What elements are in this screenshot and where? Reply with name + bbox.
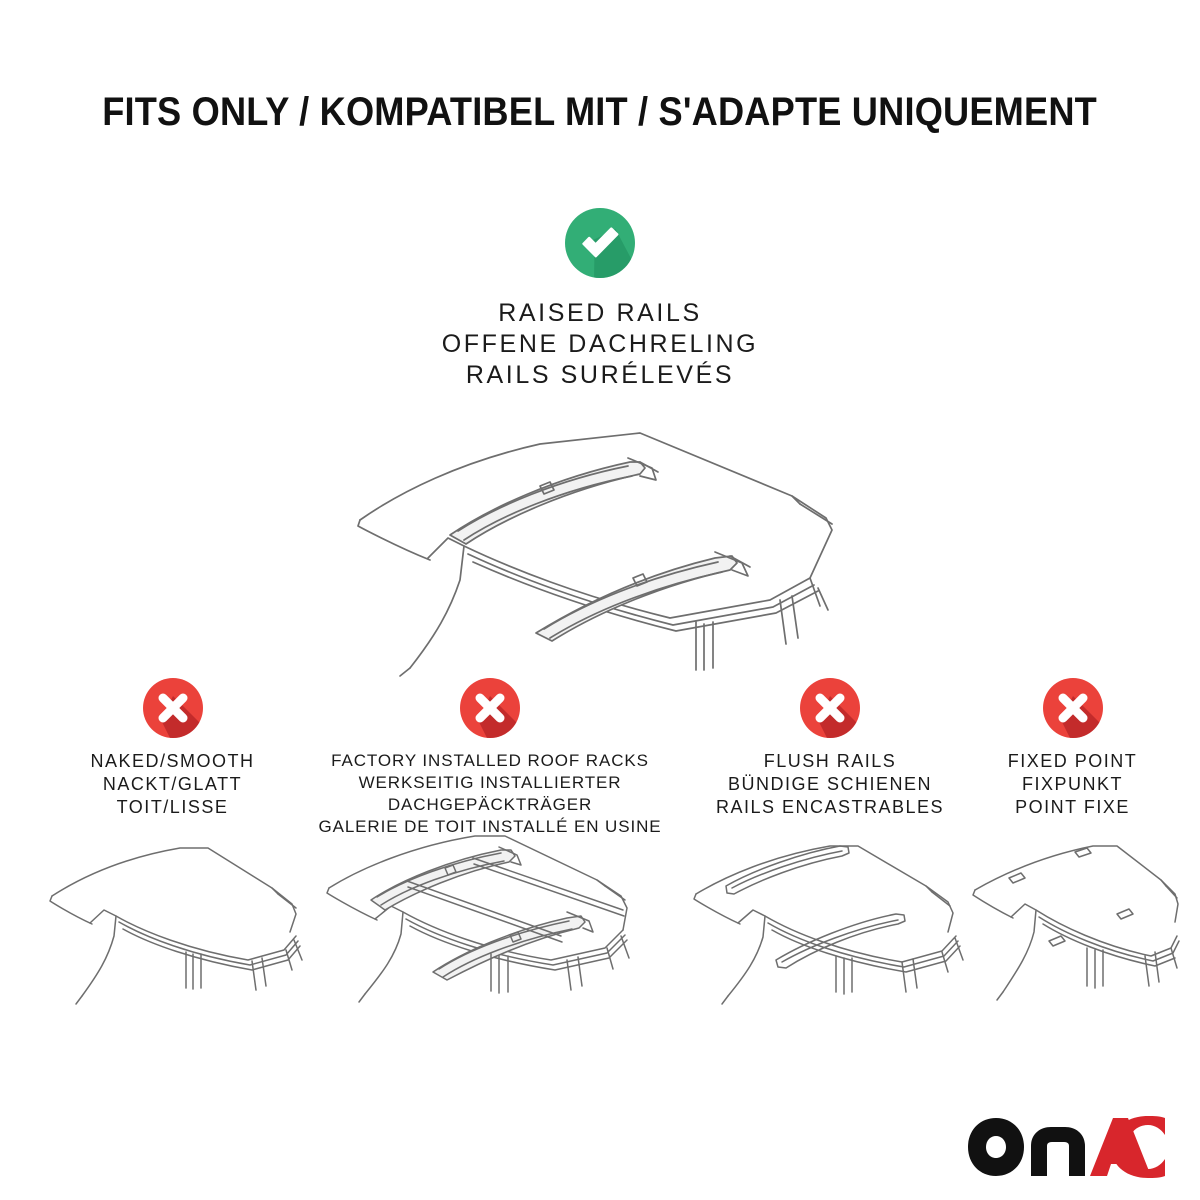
label-group: FIXED POINT FIXPUNKT POINT FIXE <box>965 750 1180 819</box>
car-roof-raised-rails-illustration <box>340 400 860 680</box>
compatible-label-de: OFFENE DACHRELING <box>0 329 1200 360</box>
label-fr: RAILS ENCASTRABLES <box>680 796 980 819</box>
label-fr: POINT FIXE <box>965 796 1180 819</box>
label-en: FIXED POINT <box>965 750 1180 773</box>
car-roof-fixed-point-illustration <box>965 836 1180 1016</box>
car-roof-naked-smooth-illustration <box>40 836 305 1016</box>
omac-logo <box>965 1116 1165 1178</box>
x-circle-icon <box>1041 676 1105 740</box>
compatible-label-en: RAISED RAILS <box>0 298 1200 329</box>
compatible-label-fr: RAILS SURÉLEVÉS <box>0 360 1200 391</box>
label-group: FACTORY INSTALLED ROOF RACKS WERKSEITIG … <box>305 750 675 838</box>
car-roof-flush-rails-illustration <box>680 836 980 1016</box>
compatible-section: RAISED RAILS OFFENE DACHRELING RAILS SUR… <box>0 206 1200 391</box>
not-compatible-item-flush-rails: FLUSH RAILS BÜNDIGE SCHIENEN RAILS ENCAS… <box>680 676 980 819</box>
not-compatible-section: NAKED/SMOOTH NACKT/GLATT TOIT/LISSE <box>0 676 1200 1116</box>
label-de: NACKT/GLATT <box>40 773 305 796</box>
label-group: NAKED/SMOOTH NACKT/GLATT TOIT/LISSE <box>40 750 305 819</box>
not-compatible-item-factory-racks: FACTORY INSTALLED ROOF RACKS WERKSEITIG … <box>305 676 675 838</box>
compatible-labels: RAISED RAILS OFFENE DACHRELING RAILS SUR… <box>0 298 1200 391</box>
x-circle-icon <box>458 676 522 740</box>
label-en: FACTORY INSTALLED ROOF RACKS <box>305 750 675 772</box>
not-compatible-item-fixed-point: FIXED POINT FIXPUNKT POINT FIXE <box>965 676 1180 819</box>
label-fr: TOIT/LISSE <box>40 796 305 819</box>
label-de: BÜNDIGE SCHIENEN <box>680 773 980 796</box>
x-circle-icon <box>798 676 862 740</box>
car-roof-factory-racks-illustration <box>305 826 675 1016</box>
label-de: FIXPUNKT <box>965 773 1180 796</box>
label-de-2: DACHGEPÄCKTRÄGER <box>305 794 675 816</box>
x-circle-icon <box>141 676 205 740</box>
not-compatible-item-naked-smooth: NAKED/SMOOTH NACKT/GLATT TOIT/LISSE <box>40 676 305 819</box>
label-group: FLUSH RAILS BÜNDIGE SCHIENEN RAILS ENCAS… <box>680 750 980 819</box>
label-de-1: WERKSEITIG INSTALLIERTER <box>305 772 675 794</box>
label-en: NAKED/SMOOTH <box>40 750 305 773</box>
page-title: FITS ONLY / KOMPATIBEL MIT / S'ADAPTE UN… <box>103 88 1098 136</box>
check-circle-icon <box>563 206 637 280</box>
label-en: FLUSH RAILS <box>680 750 980 773</box>
page-header: FITS ONLY / KOMPATIBEL MIT / S'ADAPTE UN… <box>0 88 1200 136</box>
